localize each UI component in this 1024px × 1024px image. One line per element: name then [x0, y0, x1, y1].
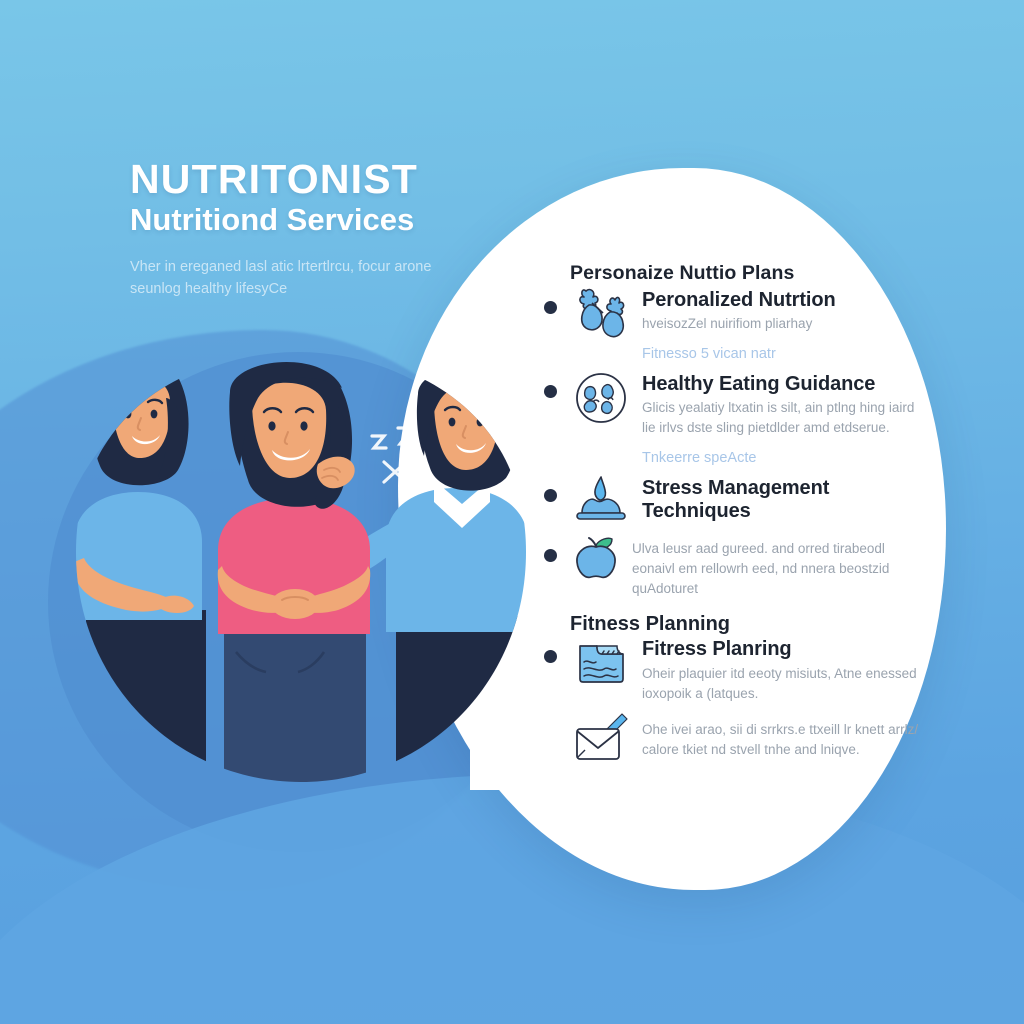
bullet-dot-icon — [544, 549, 557, 562]
list-item[interactable]: Ulva leusr aad gureed. and orred tirabeo… — [540, 535, 920, 600]
list-item[interactable]: Peronalized Nutrtion hveisozZel nuirifio… — [540, 287, 920, 369]
services-list: Personaize Nuttio Plans — [540, 262, 920, 774]
item-description: Glicis yealatiy ltxatin is silt, ain ptl… — [642, 398, 920, 439]
bullet-dot-icon — [544, 301, 557, 314]
bullet-dot-icon — [544, 489, 557, 502]
apple-icon — [570, 531, 622, 583]
item-title: Fitress Planring — [642, 638, 920, 661]
item-description: hveisozZel nuirifiom pliarhay — [642, 314, 920, 334]
plate-of-food-circle-icon — [570, 367, 632, 429]
contact-note[interactable]: Ohe ivei arao, sii di srrkrs.e ttxeill l… — [540, 716, 920, 774]
poster-header: NUTRITONIST Nutritiond Services Vher in … — [130, 158, 530, 301]
infographic-poster: NUTRITONIST Nutritiond Services Vher in … — [0, 0, 1024, 1024]
bullet-dot-icon — [544, 650, 557, 663]
three-people-illustration — [66, 352, 536, 782]
note-description: Ohe ivei arao, sii di srrkrs.e ttxeill l… — [642, 720, 920, 761]
candle-flame-icon — [570, 471, 632, 533]
list-item[interactable]: Stress Management Techniques — [540, 475, 920, 533]
item-title: Peronalized Nutrtion — [642, 289, 920, 312]
page-title: NUTRITONIST — [130, 158, 530, 201]
header-description: Vher in ereganed lasl atic lrtertlrcu, f… — [130, 256, 480, 301]
radish-vegetables-icon — [570, 283, 632, 345]
item-tag: Fitnesso 5 vican natr — [642, 344, 920, 364]
water-container-icon — [570, 632, 632, 694]
item-title: Stress Management Techniques — [642, 477, 920, 523]
envelope-with-pen-icon — [570, 712, 632, 774]
item-description: Oheir plaquier itd eeoty misiuts, Atne e… — [642, 664, 920, 705]
page-subtitle: Nutritiond Services — [130, 203, 530, 238]
section-heading: Personaize Nuttio Plans — [570, 262, 920, 285]
bullet-dot-icon — [544, 385, 557, 398]
list-item[interactable]: Healthy Eating Guidance Glicis yealatiy … — [540, 371, 920, 473]
item-tag: Tnkeerre speActe — [642, 448, 920, 468]
item-title: Healthy Eating Guidance — [642, 373, 920, 396]
item-description: Ulva leusr aad gureed. and orred tirabeo… — [632, 539, 920, 600]
list-item[interactable]: Fitress Planring Oheir plaquier itd eeot… — [540, 636, 920, 704]
